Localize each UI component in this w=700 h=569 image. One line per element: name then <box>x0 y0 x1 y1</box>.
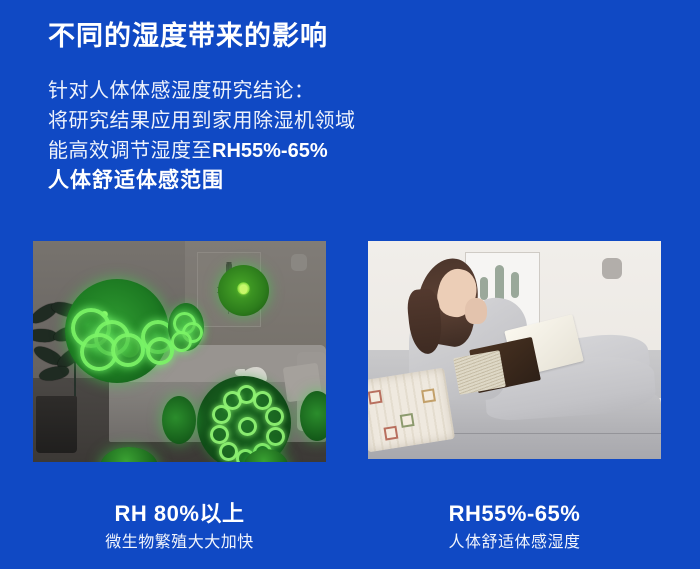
patterned-pillow <box>368 368 455 453</box>
intro-line-3-prefix: 能高效调节湿度至 <box>48 140 212 162</box>
microbe-cluster-mid <box>168 303 204 351</box>
microbe-spike <box>266 427 285 446</box>
pillow-motif <box>368 389 382 404</box>
humidity-range-emphasis: RH55%-65% <box>212 140 328 162</box>
microbe-virus-bottom <box>197 376 291 462</box>
dim-room-scene <box>33 241 326 462</box>
caption-left-title: RH 80%以上 <box>33 500 326 528</box>
pillow-motif <box>384 426 399 441</box>
bright-room-scene <box>368 241 661 459</box>
intro-line-1: 针对人体体感湿度研究结论： <box>48 76 356 106</box>
intro-line-2: 将研究结果应用到家用除湿机领域 <box>48 106 356 136</box>
wall-knob-icon <box>602 258 622 279</box>
microbe-partial-left <box>162 396 196 444</box>
microbe-core <box>238 417 257 436</box>
microbe-spike <box>265 407 284 426</box>
pillow-motif <box>421 388 436 403</box>
photo-high-humidity <box>33 241 326 462</box>
photo-comfort-humidity <box>368 241 661 459</box>
pillow-motif <box>400 413 415 428</box>
microbe-cell <box>111 333 145 367</box>
caption-high-humidity: RH 80%以上 微生物繁殖大大加快 <box>33 500 326 555</box>
intro-line-3: 能高效调节湿度至RH55%-65% <box>48 136 356 166</box>
microbe-cluster-large <box>65 279 169 383</box>
page-title: 不同的湿度带来的影响 <box>48 18 328 54</box>
caption-left-subtitle: 微生物繁殖大大加快 <box>33 531 326 555</box>
microbe-cell <box>146 337 174 365</box>
intro-paragraph: 针对人体体感湿度研究结论： 将研究结果应用到家用除湿机领域 能高效调节湿度至RH… <box>48 76 356 196</box>
microbe-cell <box>171 331 192 352</box>
humidity-comparison-poster: 不同的湿度带来的影响 针对人体体感湿度研究结论： 将研究结果应用到家用除湿机领域… <box>0 0 700 569</box>
caption-comfort-humidity: RH55%-65% 人体舒适体感湿度 <box>368 500 661 555</box>
caption-right-subtitle: 人体舒适体感湿度 <box>368 531 661 555</box>
microbe-spike <box>210 425 229 444</box>
microbe-virus-top <box>218 265 269 316</box>
plant-leaf <box>38 365 70 382</box>
intro-line-4: 人体舒适体感范围 <box>48 166 356 196</box>
caption-right-title: RH55%-65% <box>368 500 661 528</box>
microbe-spike <box>223 391 242 410</box>
microbe-core <box>240 287 247 294</box>
wall-knob-icon <box>291 254 307 271</box>
woman-hand <box>465 298 487 324</box>
microbe-spike <box>219 442 238 461</box>
